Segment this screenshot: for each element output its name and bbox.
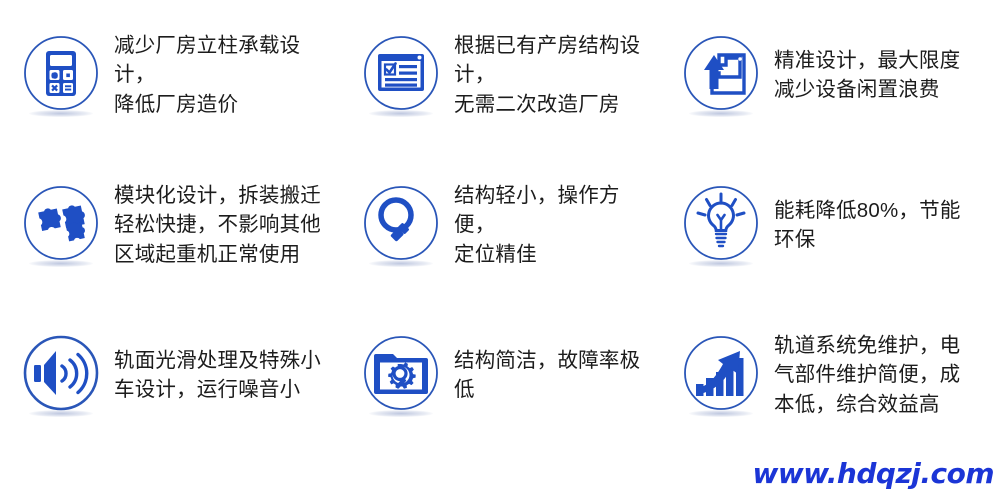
- feature-item-folder-gear-wrench: 结构简洁，故障率极低: [340, 300, 660, 450]
- feature-item-arrow-up-frame: 精准设计，最大限度 减少设备闲置浪费: [660, 0, 1000, 150]
- feature-item-lightbulb: 能耗降低80%，节能 环保: [660, 150, 1000, 300]
- checklist-document-icon: [358, 32, 444, 118]
- feature-grid-page: 减少厂房立柱承载设计， 降低厂房造价 根据已有产房结构: [0, 0, 1000, 494]
- features-grid: 减少厂房立柱承载设计， 降低厂房造价 根据已有产房结构: [0, 0, 1000, 460]
- feature-item-checklist-document: 根据已有产房结构设计， 无需二次改造厂房: [340, 0, 660, 150]
- folder-gear-wrench-icon: [358, 332, 444, 418]
- feature-text: 模块化设计，拆装搬迁 轻松快捷，不影响其他 区域起重机正常使用: [114, 181, 321, 268]
- feature-text: 结构轻小，操作方便， 定位精佳: [454, 181, 660, 268]
- feature-item-speaker-sound: 轨面光滑处理及特殊小 车设计，运行噪音小: [0, 300, 340, 450]
- feature-text: 根据已有产房结构设计， 无需二次改造厂房: [454, 31, 660, 118]
- magnifier-icon: [358, 182, 444, 268]
- feature-text: 结构简洁，故障率极低: [454, 346, 660, 404]
- feature-item-growth-chart: 轨道系统免维护，电 气部件维护简便，成 本低，综合效益高: [660, 300, 1000, 450]
- feature-item-magnifier: 结构轻小，操作方便， 定位精佳: [340, 150, 660, 300]
- lightbulb-icon: [678, 182, 764, 268]
- feature-text: 轨面光滑处理及特殊小 车设计，运行噪音小: [114, 346, 321, 404]
- feature-item-calculator: 减少厂房立柱承载设计， 降低厂房造价: [0, 0, 340, 150]
- growth-chart-arrow-icon: [678, 332, 764, 418]
- feature-text: 减少厂房立柱承载设计， 降低厂房造价: [114, 31, 340, 118]
- watermark-url: www.hdqzj.com: [752, 457, 994, 490]
- calculator-icon: [18, 32, 104, 118]
- arrow-up-frame-icon: [678, 32, 764, 118]
- feature-item-puzzle-pieces: 模块化设计，拆装搬迁 轻松快捷，不影响其他 区域起重机正常使用: [0, 150, 340, 300]
- feature-text: 轨道系统免维护，电 气部件维护简便，成 本低，综合效益高: [774, 331, 960, 418]
- feature-text: 能耗降低80%，节能 环保: [774, 196, 961, 254]
- puzzle-pieces-icon: [18, 182, 104, 268]
- feature-text: 精准设计，最大限度 减少设备闲置浪费: [774, 46, 960, 104]
- speaker-sound-icon: [18, 332, 104, 418]
